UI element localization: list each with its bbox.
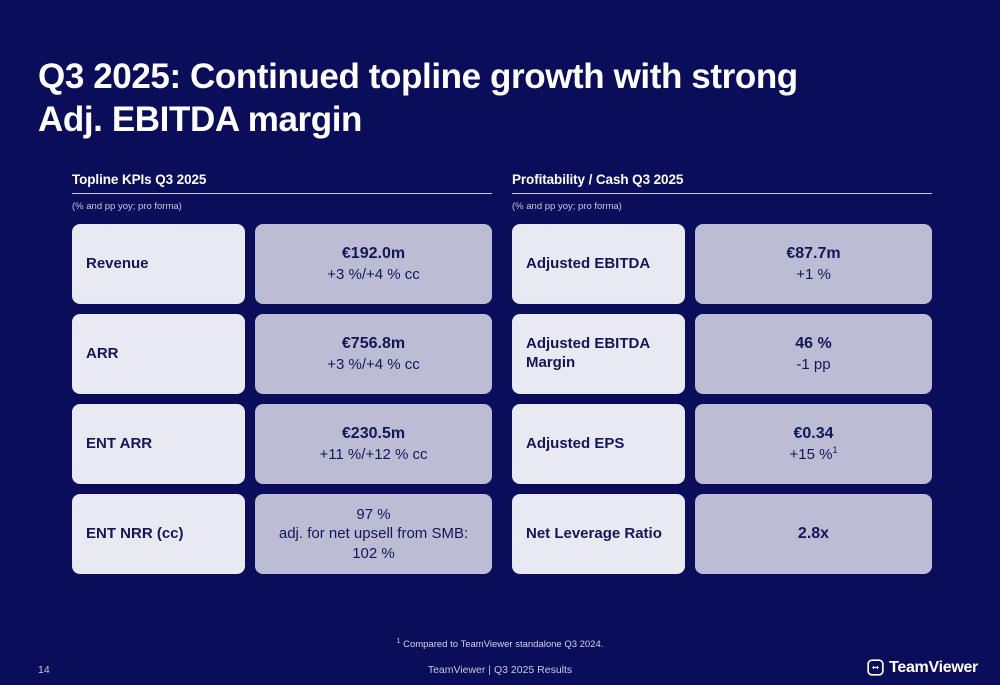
- kpi-label-net-leverage-ratio: Net Leverage Ratio: [512, 494, 685, 574]
- column-divider-profitability: [512, 193, 932, 194]
- kpi-value-arr: €756.8m +3 %/+4 % cc: [255, 314, 492, 394]
- kpi-primary-value: 46 %: [795, 334, 831, 355]
- kpi-primary-value: €192.0m: [342, 244, 405, 265]
- kpi-row: Adjusted EBITDA €87.7m +1 %: [512, 224, 932, 304]
- kpi-label-adjusted-ebitda: Adjusted EBITDA: [512, 224, 685, 304]
- kpi-secondary-value: adj. for net upsell from SMB:: [279, 524, 468, 544]
- slide-root: Q3 2025: Continued topline growth with s…: [0, 0, 1000, 685]
- kpi-column-profitability: Profitability / Cash Q3 2025 (% and pp y…: [512, 172, 932, 584]
- kpi-secondary-value: +11 %/+12 % cc: [319, 445, 427, 465]
- kpi-secondary-value: +15 %1: [790, 445, 838, 465]
- kpi-primary-value: €87.7m: [786, 244, 840, 265]
- kpi-row: Net Leverage Ratio 2.8x: [512, 494, 932, 574]
- kpi-label-ent-nrr: ENT NRR (cc): [72, 494, 245, 574]
- kpi-value-net-leverage-ratio: 2.8x: [695, 494, 932, 574]
- kpi-value-adjusted-ebitda: €87.7m +1 %: [695, 224, 932, 304]
- page-title: Q3 2025: Continued topline growth with s…: [38, 56, 868, 141]
- teamviewer-logo: TeamViewer: [867, 659, 978, 676]
- kpi-value-adjusted-eps: €0.34 +15 %1: [695, 404, 932, 484]
- kpi-row: Adjusted EPS €0.34 +15 %1: [512, 404, 932, 484]
- column-heading-topline: Topline KPIs Q3 2025: [72, 172, 492, 193]
- kpi-label-revenue: Revenue: [72, 224, 245, 304]
- kpi-list-profitability: Adjusted EBITDA €87.7m +1 % Adjusted EBI…: [512, 224, 932, 574]
- footer-caption: TeamViewer | Q3 2025 Results: [0, 664, 1000, 676]
- kpi-value-adjusted-ebitda-margin: 46 % -1 pp: [695, 314, 932, 394]
- footnote-text: Compared to TeamViewer standalone Q3 202…: [403, 639, 603, 650]
- kpi-label-arr: ARR: [72, 314, 245, 394]
- kpi-label-adjusted-eps: Adjusted EPS: [512, 404, 685, 484]
- kpi-secondary-value: -1 pp: [796, 355, 830, 375]
- column-divider-topline: [72, 193, 492, 194]
- kpi-secondary-value: +1 %: [796, 265, 831, 285]
- kpi-primary-value: €756.8m: [342, 334, 405, 355]
- kpi-row: ARR €756.8m +3 %/+4 % cc: [72, 314, 492, 394]
- kpi-list-topline: Revenue €192.0m +3 %/+4 % cc ARR €756.8m…: [72, 224, 492, 574]
- kpi-secondary-value: +3 %/+4 % cc: [327, 355, 420, 375]
- kpi-secondary-value: +3 %/+4 % cc: [327, 265, 420, 285]
- kpi-row: ENT NRR (cc) 97 % adj. for net upsell fr…: [72, 494, 492, 574]
- kpi-primary-value: €0.34: [793, 424, 833, 445]
- kpi-primary-value: 97 %: [356, 505, 390, 525]
- kpi-row: Adjusted EBITDA Margin 46 % -1 pp: [512, 314, 932, 394]
- column-heading-profitability: Profitability / Cash Q3 2025: [512, 172, 932, 193]
- kpi-tertiary-value: 102 %: [352, 544, 395, 564]
- kpi-primary-value: €230.5m: [342, 424, 405, 445]
- column-subheading-topline: (% and pp yoy; pro forma): [72, 201, 492, 212]
- kpi-row: Revenue €192.0m +3 %/+4 % cc: [72, 224, 492, 304]
- kpi-secondary-text: +15 %: [790, 446, 833, 463]
- kpi-column-topline: Topline KPIs Q3 2025 (% and pp yoy; pro …: [72, 172, 492, 584]
- footnote-marker: 1: [397, 638, 401, 645]
- footnote: 1 Compared to TeamViewer standalone Q3 2…: [0, 638, 1000, 650]
- footnote-reference-marker: 1: [832, 445, 837, 455]
- kpi-value-ent-arr: €230.5m +11 %/+12 % cc: [255, 404, 492, 484]
- column-subheading-profitability: (% and pp yoy; pro forma): [512, 201, 932, 212]
- kpi-value-ent-nrr: 97 % adj. for net upsell from SMB: 102 %: [255, 494, 492, 574]
- kpi-value-revenue: €192.0m +3 %/+4 % cc: [255, 224, 492, 304]
- teamviewer-wordmark: TeamViewer: [889, 660, 978, 676]
- kpi-row: ENT ARR €230.5m +11 %/+12 % cc: [72, 404, 492, 484]
- kpi-label-adjusted-ebitda-margin: Adjusted EBITDA Margin: [512, 314, 685, 394]
- kpi-label-ent-arr: ENT ARR: [72, 404, 245, 484]
- teamviewer-arrows-icon: [867, 659, 884, 676]
- kpi-primary-value: 2.8x: [798, 524, 829, 545]
